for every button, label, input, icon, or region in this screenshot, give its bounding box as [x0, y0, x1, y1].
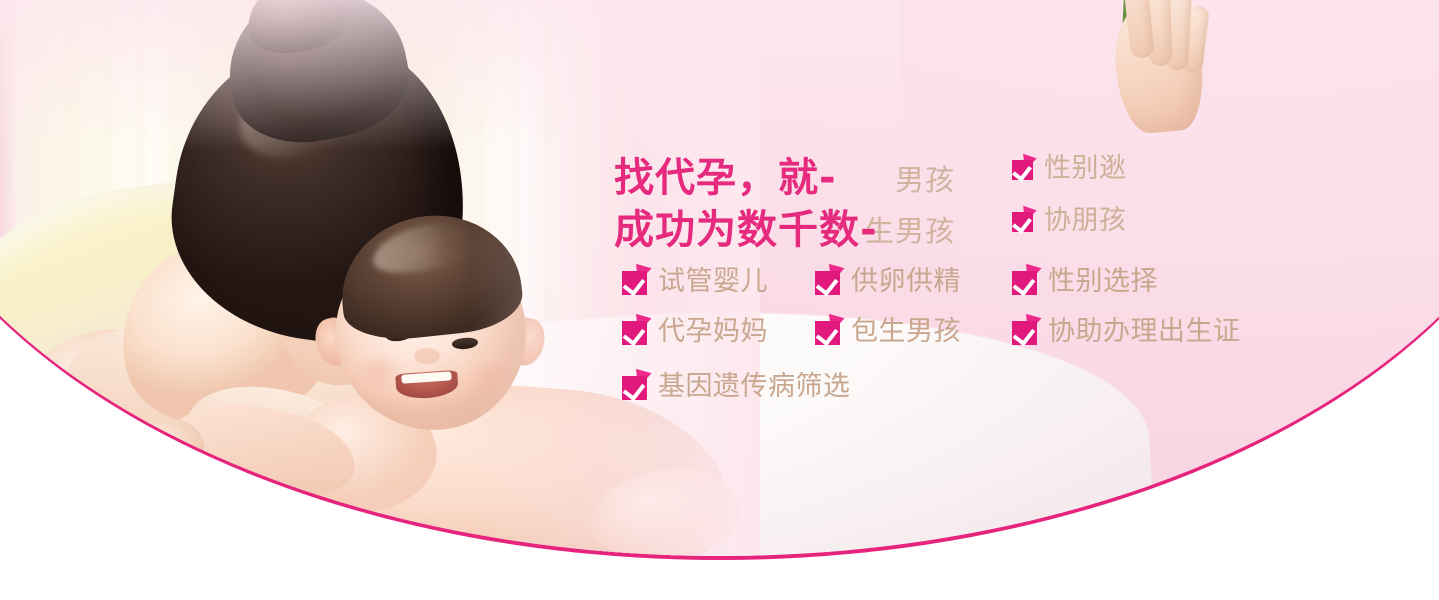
checkbox-checked-icon — [622, 373, 649, 400]
checklist-item-shiguan-yinger[interactable]: 试管婴儿 — [622, 268, 768, 295]
ghost-keyword-2: 生男孩 — [865, 208, 955, 250]
checkbox-checked-icon — [815, 268, 842, 295]
checkbox-checked-icon — [815, 318, 842, 345]
checkbox-checked-icon — [1012, 157, 1035, 180]
checklist-label: 试管婴儿 — [658, 268, 768, 295]
faded-checklist-item-0[interactable]: 性别逖 — [1012, 155, 1127, 182]
headline-line-2: 成功为数千数‐ — [614, 197, 878, 255]
checklist-item-daiyun-mama[interactable]: 代孕妈妈 — [622, 318, 768, 345]
promotional-banner: 男孩 生男孩 性别逖 协朋孩 找代孕，就‐ 成功为数千数‐ 试管婴儿 — [0, 0, 1439, 600]
checklist-label: 协朋孩 — [1044, 207, 1127, 234]
checkbox-checked-icon — [1012, 268, 1039, 295]
checklist-item-gongluan-gongjing[interactable]: 供卵供精 — [815, 268, 961, 295]
checklist-label: 协助办理出生证 — [1048, 318, 1241, 345]
checklist-item-jiyin-shaixuan[interactable]: 基因遗传病筛选 — [622, 373, 851, 400]
checklist-item-baosheng-nanhai[interactable]: 包生男孩 — [815, 318, 961, 345]
checklist-label: 代孕妈妈 — [658, 318, 768, 345]
checkbox-checked-icon — [1012, 318, 1039, 345]
headline-line-1: 找代孕，就‐ — [614, 145, 837, 203]
checklist-item-xingbie-xuanze[interactable]: 性别选择 — [1012, 268, 1158, 295]
copy-layer: 男孩 生男孩 性别逖 协朋孩 找代孕，就‐ 成功为数千数‐ 试管婴儿 — [0, 0, 1439, 600]
ghost-keyword-1: 男孩 — [895, 157, 955, 199]
checklist-label: 性别逖 — [1044, 155, 1127, 182]
checkbox-checked-icon — [1012, 209, 1035, 232]
checklist-label: 包生男孩 — [851, 318, 961, 345]
checklist-label: 基因遗传病筛选 — [658, 373, 851, 400]
checklist-item-chusheng-zheng[interactable]: 协助办理出生证 — [1012, 318, 1241, 345]
checkbox-checked-icon — [622, 268, 649, 295]
checklist-label: 供卵供精 — [851, 268, 961, 295]
checkbox-checked-icon — [622, 318, 649, 345]
faded-checklist-item-1[interactable]: 协朋孩 — [1012, 207, 1127, 234]
checklist-label: 性别选择 — [1048, 268, 1158, 295]
